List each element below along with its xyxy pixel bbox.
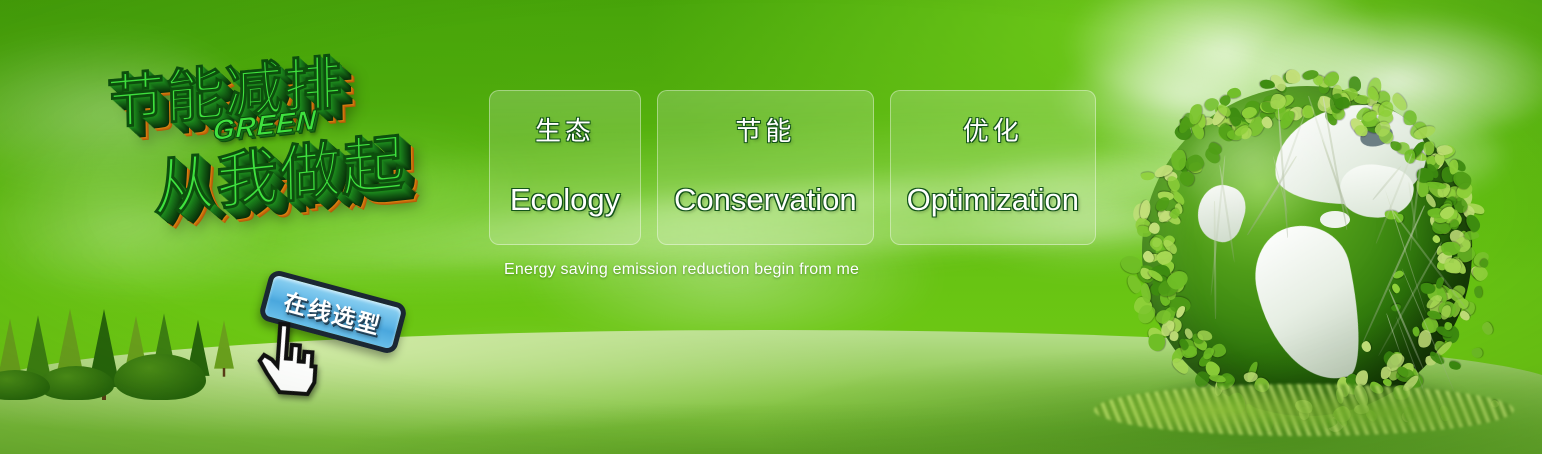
feature-card-title-cn: 生态: [535, 111, 595, 148]
cta-area: 在线选型: [258, 280, 428, 390]
falling-leaf: [1448, 360, 1462, 371]
green-energy-banner: 节能减排 GREEN 从我做起 生态 Ecology 节能 Conservati…: [0, 0, 1542, 454]
continent-south-america: [1245, 216, 1372, 391]
feature-card-title-cn: 节能: [735, 111, 795, 148]
falling-leaf: [1471, 347, 1482, 358]
feature-card-conservation[interactable]: 节能 Conservation: [657, 90, 874, 245]
falling-leaf: [1474, 285, 1482, 297]
headline-3d: 节能减排 GREEN 从我做起: [90, 26, 501, 277]
bush: [114, 354, 206, 400]
globe-leaf: [1141, 172, 1155, 181]
leaf-litter-ground: [1094, 384, 1514, 436]
tree: [214, 320, 234, 376]
feature-card-list: 生态 Ecology 节能 Conservation 优化 Optimizati…: [489, 90, 1096, 245]
banner-tagline: Energy saving emission reduction begin f…: [504, 261, 859, 279]
bush: [38, 366, 114, 400]
feature-card-title-cn: 优化: [963, 111, 1023, 148]
feature-card-ecology[interactable]: 生态 Ecology: [489, 90, 641, 245]
globe-highlight: [1188, 112, 1346, 231]
feature-card-title-en: Optimization: [907, 182, 1079, 218]
feature-card-optimization[interactable]: 优化 Optimization: [890, 90, 1096, 245]
feature-card-title-en: Conservation: [674, 182, 857, 218]
feature-card-title-en: Ecology: [510, 182, 620, 218]
leafy-globe-icon: [1142, 86, 1472, 416]
